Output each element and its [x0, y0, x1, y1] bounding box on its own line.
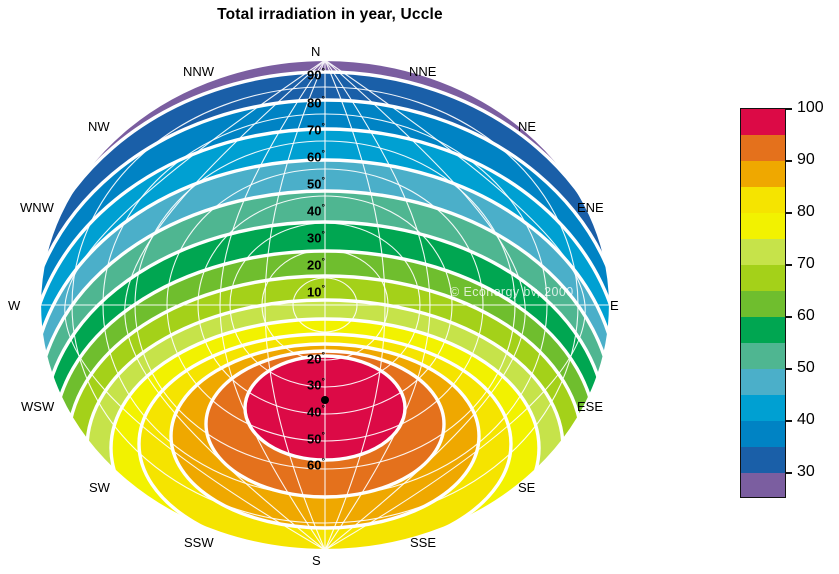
- compass-label-nne: NNE: [409, 64, 436, 79]
- radial-label-n-30: 30°: [307, 229, 325, 245]
- radial-label-s-20: 20°: [307, 350, 325, 366]
- compass-label-sse: SSE: [410, 535, 436, 550]
- compass-label-wsw: WSW: [21, 399, 54, 414]
- colorbar-tick-label: 40: [797, 411, 815, 429]
- colorbar-tick-label: 30: [797, 463, 815, 481]
- radial-label-n-50: 50°: [307, 175, 325, 191]
- compass-label-wnw: WNW: [20, 200, 54, 215]
- colorbar-tick-mark: [786, 368, 792, 370]
- compass-label-ene: ENE: [577, 200, 604, 215]
- colorbar-tick-mark: [786, 212, 792, 214]
- colorbar-tick-mark: [786, 420, 792, 422]
- watermark-text: © Econergy bv, 2000: [450, 285, 574, 299]
- colorbar-tick-label: 100: [797, 99, 824, 117]
- radial-label-s-30: 30°: [307, 376, 325, 392]
- colorbar-tick-mark: [786, 160, 792, 162]
- compass-label-n: N: [311, 44, 320, 59]
- compass-label-e: E: [610, 298, 619, 313]
- colorbar-ticks: 10090807060504030: [735, 95, 839, 520]
- colorbar-tick-mark: [786, 316, 792, 318]
- colorbar-tick-label: 50: [797, 359, 815, 377]
- compass-label-ssw: SSW: [184, 535, 214, 550]
- compass-label-ne: NE: [518, 119, 536, 134]
- radial-label-n-70: 70°: [307, 121, 325, 137]
- compass-label-sw: SW: [89, 480, 110, 495]
- chart-page: Total irradiation in year, Uccle: [0, 0, 839, 574]
- colorbar-tick-mark: [786, 108, 792, 110]
- compass-label-nnw: NNW: [183, 64, 214, 79]
- radial-label-n-20: 20°: [307, 256, 325, 272]
- radial-label-n-10: 10°: [307, 283, 325, 299]
- polar-plot: N NNE NE ENE E ESE SE SSE S SSW SW WSW W…: [0, 0, 660, 574]
- colorbar-tick-label: 90: [797, 151, 815, 169]
- radial-label-n-40: 40°: [307, 202, 325, 218]
- colorbar-tick-label: 60: [797, 307, 815, 325]
- radial-label-n-90: 90°: [307, 66, 325, 82]
- compass-label-se: SE: [518, 480, 535, 495]
- colorbar-tick-mark: [786, 264, 792, 266]
- compass-label-nw: NW: [88, 119, 110, 134]
- radial-label-s-40: 40°: [307, 403, 325, 419]
- radial-label-n-60: 60°: [307, 148, 325, 164]
- compass-label-w: W: [8, 298, 20, 313]
- colorbar-tick-label: 80: [797, 203, 815, 221]
- radial-label-s-60: 60°: [307, 456, 325, 472]
- radial-label-s-50: 50°: [307, 430, 325, 446]
- colorbar-tick-mark: [786, 472, 792, 474]
- compass-label-s: S: [312, 553, 321, 568]
- radial-label-n-80: 80°: [307, 94, 325, 110]
- colorbar: 10090807060504030: [735, 95, 839, 520]
- colorbar-tick-label: 70: [797, 255, 815, 273]
- compass-label-ese: ESE: [577, 399, 603, 414]
